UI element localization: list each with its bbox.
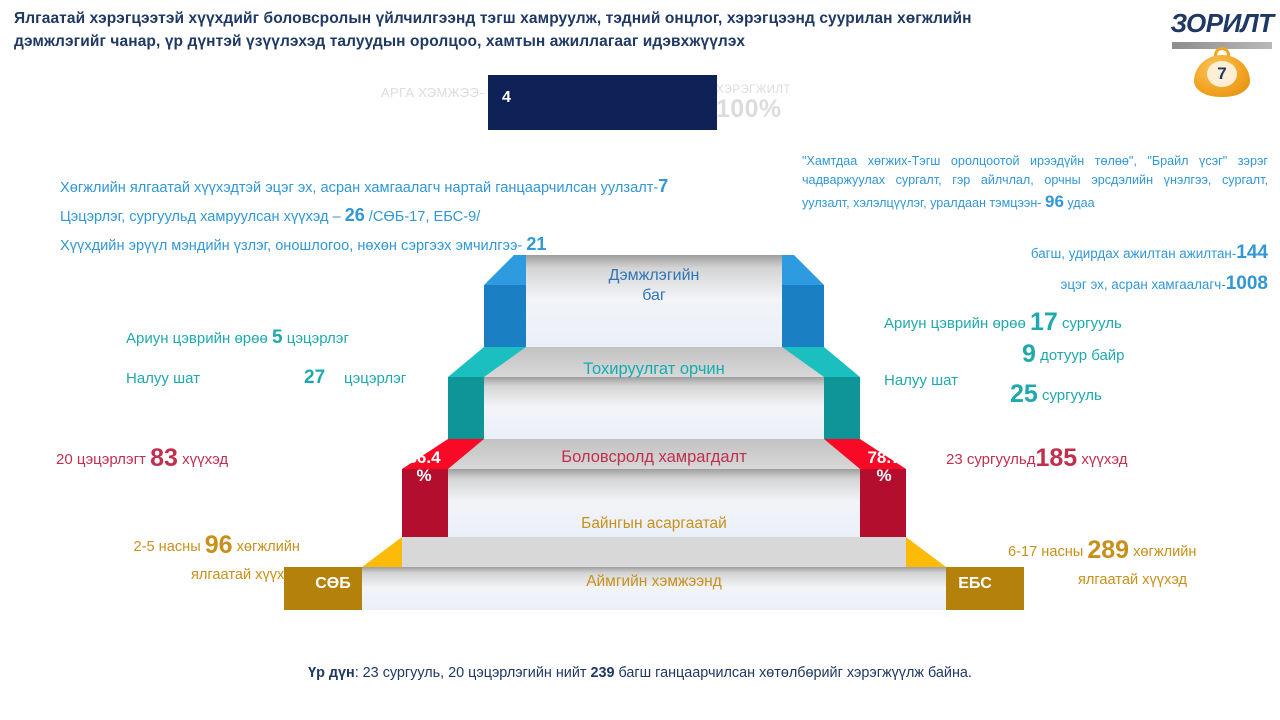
measures-ghost-label: АРГА ХЭМЖЭЭ- 4 [381, 84, 497, 102]
parents-label: эцэг эх, асран хамгаалагч- [1061, 277, 1226, 292]
pyramid-base-right-label: ЕБС [938, 575, 1012, 593]
teal-right-toilet-unit: сургууль [1058, 315, 1122, 332]
footer-value: 239 [590, 665, 614, 681]
page-title-line1: Ялгаатай хэрэгцээтэй хүүхдийг боловсролы… [14, 10, 972, 27]
navy-box-value: 4 [502, 89, 511, 107]
gold-left-value: 96 [205, 531, 233, 559]
crimson-left-value: 83 [150, 444, 178, 472]
implementation-ghost-label: ХЭРЭГЖИЛТ 100% [716, 84, 791, 122]
left-blue-line-3-text: Хүүхдийн эрүүл мэндийн үзлэг, оношлогоо,… [60, 238, 526, 254]
pyramid-label-level-4: Байнгын асаргаатай [284, 515, 1024, 533]
left-blue-line-2: Цэцэрлэг, сургуульд хамруулсан хүүхэд – … [60, 201, 800, 230]
pyramid-label-level-3: Боловсролд хамрагдалт [284, 448, 1024, 467]
pyramid-red-left-percent: % [402, 467, 446, 485]
crimson-right-suffix: хүүхэд [1077, 451, 1127, 468]
crimson-right-value: 185 [1036, 444, 1078, 472]
footer-text-2: багш ганцаарчилсан хөтөлбөрийг хэрэгжүүл… [614, 665, 971, 681]
badge-number: 7 [1207, 61, 1237, 87]
teal-left-toilet-label: Ариун цэврийн өрөө [126, 330, 272, 347]
implementation-value-text: 100% [716, 97, 791, 122]
left-blue-line-1-text: Хөгжлийн ялгаатай хүүхэдтэй эцэг эх, аср… [60, 180, 658, 196]
right-blue-paragraph: "Хамтдаа хөгжих-Тэгш оролцоотой ирээдүйн… [802, 152, 1268, 214]
pyramid-red-right-value: 78.7 % [862, 449, 906, 485]
footer-text-1: : 23 сургууль, 20 цэцэрлэгийн нийт [355, 665, 591, 681]
gold-right-value: 289 [1087, 536, 1129, 564]
pyramid-label-level-1-line2: баг [284, 286, 1024, 306]
right-blue-paragraph-text: "Хамтдаа хөгжих-Тэгш оролцоотой ирээдүйн… [802, 154, 1268, 210]
left-blue-line-3-value: 21 [526, 234, 546, 254]
teachers-value: 144 [1236, 242, 1268, 263]
teal-left-toilet-value: 5 [272, 327, 283, 348]
gold-right-block: 6-17 насны 289 хөгжлийн ялгаатай хүүхэд [1008, 532, 1270, 591]
gold-right-line2: ялгаатай хүүхэд [1078, 570, 1270, 592]
teal-right-dorm-row: 9 дотуур байр [1022, 340, 1125, 369]
teal-right-dorm-value: 9 [1022, 340, 1036, 368]
teachers-label: багш, удирдах ажилтан ажилтан- [1031, 246, 1236, 261]
pyramid-label-level-5: Аймгийн хэмжээнд [284, 573, 1024, 591]
pyramid-gold-right-value: 54 [914, 513, 948, 537]
parents-value: 1008 [1226, 273, 1268, 294]
pyramid-diagram: Дэмжлэгийн баг Тохируулгат орчин Боловср… [284, 255, 1024, 610]
pyramid-base-left-label: СӨБ [296, 575, 370, 593]
pyramid-svg [284, 255, 1024, 610]
teal-right-toilet-value: 17 [1030, 308, 1058, 336]
pyramid-gold-left-value: 8 [360, 513, 394, 537]
footer-summary: Үр дүн: 23 сургууль, 20 цэцэрлэгийн нийт… [0, 665, 1280, 681]
slide-canvas: Ялгаатай хэрэгцээтэй хүүхдийг боловсролы… [0, 0, 1280, 720]
logo-badge-icon: 7 [1194, 47, 1250, 97]
left-blue-line-1: Хөгжлийн ялгаатай хүүхэдтэй эцэг эх, аср… [60, 172, 800, 201]
left-blue-line-2-value: 26 [345, 205, 365, 225]
bar-level-2 [484, 377, 824, 439]
gold-left-line2: ялгаатай хүүхэд [50, 565, 300, 587]
pyramid-red-right-percent: % [862, 467, 906, 485]
pyramid-red-left-number: 86.4 [402, 449, 446, 467]
gold-right-suffix: хөгжлийн [1129, 544, 1196, 560]
crimson-left-prefix: 20 цэцэрлэгт [56, 451, 150, 468]
left-blue-line-2-text: Цэцэрлэг, сургуульд хамруулсан хүүхэд – [60, 209, 345, 225]
left-blue-text-block: Хөгжлийн ялгаатай хүүхэдтэй эцэг эх, аср… [60, 172, 800, 259]
gold-left-block: 2-5 насны 96 хөгжлийн ялгаатай хүүхэд [50, 527, 300, 586]
pyramid-red-left-value: 86.4 % [402, 449, 446, 485]
teal-right-dorm-unit: дотуур байр [1036, 347, 1125, 364]
pyramid-red-right-number: 78.7 [862, 449, 906, 467]
left-blue-line-2-suffix: /СӨБ-17, ЕБС-9/ [365, 209, 481, 225]
page-title-line2: дэмжлэгийг чанар, үр дүнтэй үзүүлэхэд та… [14, 31, 1174, 54]
measures-label-text: АРГА ХЭМЖЭЭ- [381, 85, 484, 100]
logo: ЗОРИЛТ 7 [1168, 4, 1276, 96]
pyramid-label-level-1: Дэмжлэгийн баг [284, 266, 1024, 307]
gold-left-prefix: 2-5 насны [134, 539, 205, 555]
logo-wordmark: ЗОРИЛТ [1168, 8, 1276, 39]
pyramid-label-level-1-line1: Дэмжлэгийн [284, 266, 1024, 286]
crimson-left-suffix: хүүхэд [178, 451, 228, 468]
teal-left-ramp-label: Налуу шат [126, 370, 200, 387]
teal-right-ramp-unit: сургууль [1038, 387, 1102, 404]
footer-bold-label: Үр дүн [308, 665, 355, 681]
right-blue-paragraph-suffix: удаа [1064, 196, 1095, 210]
crimson-left-row: 20 цэцэрлэгт 83 хүүхэд [56, 444, 228, 473]
teal-left-ramp-row: Налуу шат 27 цэцэрлэг [126, 370, 200, 387]
right-blue-paragraph-value: 96 [1045, 192, 1064, 211]
page-title: Ялгаатай хэрэгцээтэй хүүхдийг боловсролы… [14, 8, 1174, 54]
left-blue-line-1-value: 7 [658, 176, 668, 196]
pyramid-label-level-2: Тохируулгат орчин [284, 360, 1024, 379]
navy-overlay-box: 4 [488, 75, 717, 130]
